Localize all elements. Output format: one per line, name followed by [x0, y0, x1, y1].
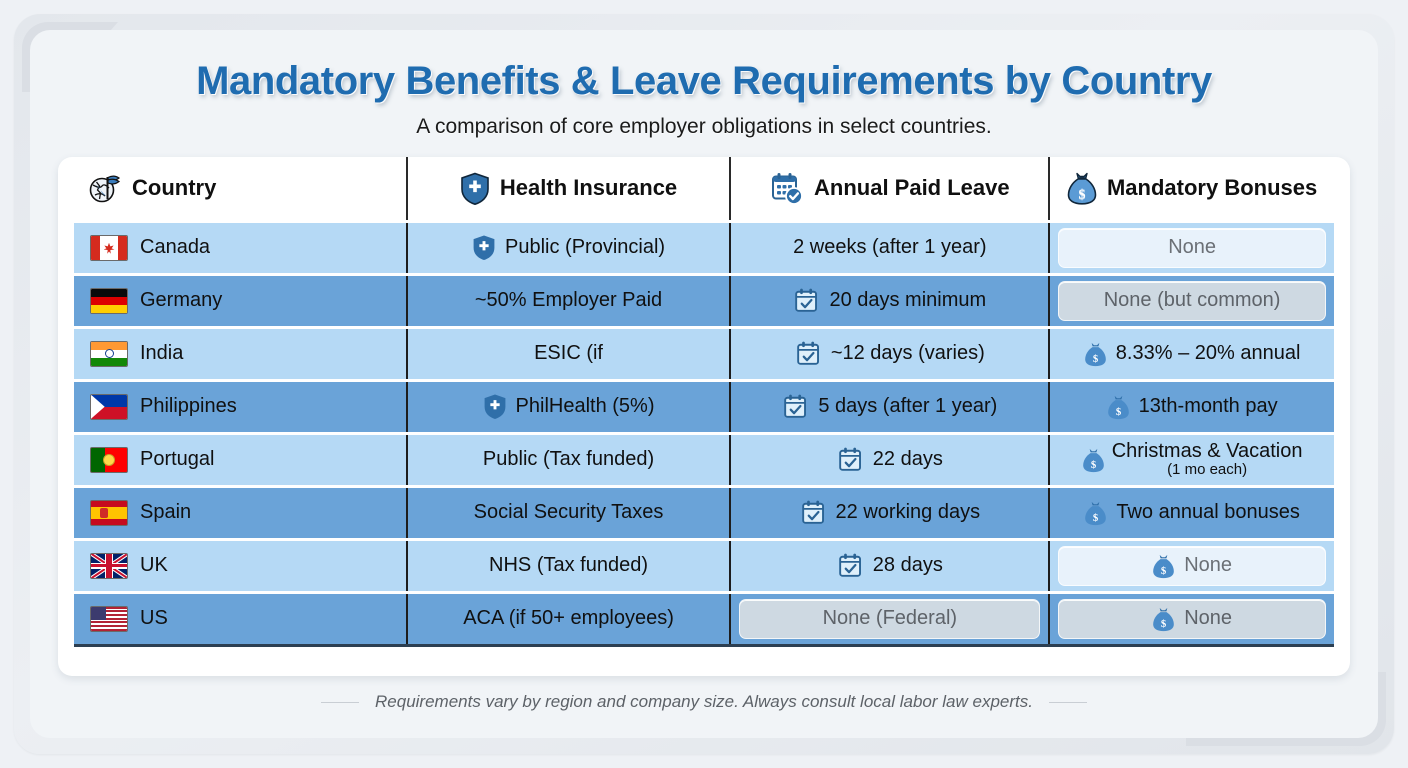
cell-mandatory-bonuses: $8.33% – 20% annual	[1049, 327, 1334, 380]
cell-health-insurance: ESIC (if	[407, 327, 731, 380]
footer-rule-right	[1049, 702, 1087, 703]
country-name: Spain	[140, 501, 191, 524]
header-row: Country Health Insurance	[74, 157, 1334, 221]
infographic-card: Mandatory Benefits & Leave Requirements …	[30, 30, 1378, 738]
health-text: ~50% Employer Paid	[475, 289, 662, 312]
svg-text:$: $	[1091, 459, 1097, 471]
bonus-badge: $None	[1058, 599, 1326, 639]
table-row[interactable]: USACA (if 50+ employees)None (Federal)$N…	[74, 592, 1334, 645]
health-text: Social Security Taxes	[474, 501, 664, 524]
money-bag-icon: $	[1107, 394, 1130, 420]
leave-text: 5 days (after 1 year)	[818, 395, 997, 418]
calendar-check-icon	[782, 393, 809, 420]
cell-country: Spain	[74, 486, 407, 539]
leave-value: 5 days (after 1 year)	[737, 393, 1042, 420]
svg-text:$: $	[1093, 353, 1099, 365]
cell-annual-paid-leave: 20 days minimum	[730, 274, 1049, 327]
cell-health-insurance: Social Security Taxes	[407, 486, 731, 539]
money-bag-icon: $	[1084, 341, 1107, 367]
cell-country: US	[74, 592, 407, 645]
philippines-flag-icon	[90, 394, 128, 420]
health-text: ESIC (if	[534, 342, 603, 365]
country-name: UK	[140, 554, 168, 577]
cell-health-insurance: PhilHealth (5%)	[407, 380, 731, 433]
table-row[interactable]: CanadaPublic (Provincial)2 weeks (after …	[74, 221, 1334, 274]
cell-country: Germany	[74, 274, 407, 327]
calendar-check-icon	[800, 499, 827, 526]
health-value: PhilHealth (5%)	[414, 393, 724, 420]
health-value: Social Security Taxes	[414, 501, 724, 524]
leave-text: 20 days minimum	[829, 289, 986, 312]
bonus-value: $13th-month pay	[1056, 394, 1328, 420]
benefits-table: Country Health Insurance	[74, 157, 1334, 647]
shield-plus-icon	[460, 172, 490, 205]
money-bag-icon: $	[1082, 447, 1105, 473]
health-value: Public (Provincial)	[414, 234, 724, 261]
footer-note: Requirements vary by region and company …	[375, 692, 1033, 712]
health-value: ~50% Employer Paid	[414, 289, 724, 312]
cell-annual-paid-leave: 22 working days	[730, 486, 1049, 539]
money-bag-icon: $	[1067, 171, 1097, 205]
leave-text: ~12 days (varies)	[831, 342, 985, 365]
column-header-country-label: Country	[132, 175, 216, 201]
bonus-text: 13th-month pay	[1139, 395, 1278, 418]
country-name: US	[140, 607, 168, 630]
health-value: ESIC (if	[414, 342, 724, 365]
table-row[interactable]: IndiaESIC (if ~12 days (varies)$8.33% – …	[74, 327, 1334, 380]
health-text: NHS (Tax funded)	[489, 554, 648, 577]
shield-plus-icon	[483, 393, 507, 420]
cell-health-insurance: ACA (if 50+ employees)	[407, 592, 731, 645]
bonus-value: $Two annual bonuses	[1056, 500, 1328, 526]
table-row[interactable]: Germany~50% Employer Paid20 days minimum…	[74, 274, 1334, 327]
bonus-text: 8.33% – 20% annual	[1116, 342, 1301, 365]
leave-text: 2 weeks (after 1 year)	[793, 236, 986, 259]
bonus-value: $Christmas & Vacation(1 mo each)	[1056, 441, 1328, 478]
cell-health-insurance: Public (Provincial)	[407, 221, 731, 274]
column-header-annual-paid-leave: Annual Paid Leave	[730, 157, 1049, 221]
cell-mandatory-bonuses: $None	[1049, 539, 1334, 592]
leave-value: 20 days minimum	[737, 287, 1042, 314]
bonus-text: None	[1184, 554, 1232, 577]
shield-plus-icon	[472, 234, 496, 261]
money-bag-icon: $	[1152, 606, 1175, 632]
country-name: Germany	[140, 289, 222, 312]
bonus-text: Two annual bonuses	[1116, 501, 1299, 524]
cell-mandatory-bonuses: $None	[1049, 592, 1334, 645]
leave-value: 28 days	[737, 552, 1042, 579]
column-header-health-insurance: Health Insurance	[407, 157, 731, 221]
leave-value: 22 working days	[737, 499, 1042, 526]
table-header: Country Health Insurance	[74, 157, 1334, 221]
germany-flag-icon	[90, 288, 128, 314]
cell-annual-paid-leave: ~12 days (varies)	[730, 327, 1049, 380]
leave-text: 28 days	[873, 554, 943, 577]
health-text: ACA (if 50+ employees)	[463, 607, 674, 630]
canada-flag-icon	[90, 235, 128, 261]
health-value: ACA (if 50+ employees)	[414, 607, 724, 630]
calendar-check-icon	[837, 446, 864, 473]
cell-annual-paid-leave: 2 weeks (after 1 year)	[730, 221, 1049, 274]
column-header-bonus-label: Mandatory Bonuses	[1107, 175, 1317, 201]
bonus-text: None	[1168, 236, 1216, 259]
leave-text: 22 working days	[836, 501, 981, 524]
page-subtitle: A comparison of core employer obligation…	[58, 115, 1350, 139]
cell-mandatory-bonuses: None	[1049, 221, 1334, 274]
svg-text:$: $	[1078, 188, 1085, 203]
column-header-leave-label: Annual Paid Leave	[814, 175, 1010, 201]
bonus-value: $8.33% – 20% annual	[1056, 341, 1328, 367]
health-value: Public (Tax funded)	[414, 448, 724, 471]
table-body: CanadaPublic (Provincial)2 weeks (after …	[74, 221, 1334, 645]
cell-health-insurance: ~50% Employer Paid	[407, 274, 731, 327]
leave-text: 22 days	[873, 448, 943, 471]
table-row[interactable]: UKNHS (Tax funded)28 days$None	[74, 539, 1334, 592]
cell-country: India	[74, 327, 407, 380]
india-flag-icon	[90, 341, 128, 367]
leave-value: ~12 days (varies)	[737, 340, 1042, 367]
bonus-badge: $None	[1058, 546, 1326, 586]
bonus-badge: None (but common)	[1058, 281, 1326, 321]
table-row[interactable]: SpainSocial Security Taxes22 working day…	[74, 486, 1334, 539]
column-header-country: Country	[74, 157, 407, 221]
money-bag-icon: $	[1084, 500, 1107, 526]
cell-country: Portugal	[74, 433, 407, 486]
bonus-badge: None	[1058, 228, 1326, 268]
cell-health-insurance: NHS (Tax funded)	[407, 539, 731, 592]
cell-health-insurance: Public (Tax funded)	[407, 433, 731, 486]
table-row[interactable]: PhilippinesPhilHealth (5%)5 days (after …	[74, 380, 1334, 433]
portugal-flag-icon	[90, 447, 128, 473]
table-panel: Country Health Insurance	[58, 157, 1350, 676]
health-text: Public (Provincial)	[505, 236, 665, 259]
cell-mandatory-bonuses: None (but common)	[1049, 274, 1334, 327]
country-name: Philippines	[140, 395, 237, 418]
uk-flag-icon	[90, 553, 128, 579]
cell-mandatory-bonuses: $Christmas & Vacation(1 mo each)	[1049, 433, 1334, 486]
country-name: Canada	[140, 236, 210, 259]
cell-country: Canada	[74, 221, 407, 274]
calendar-check-icon	[793, 287, 820, 314]
cell-annual-paid-leave: 5 days (after 1 year)	[730, 380, 1049, 433]
svg-text:$: $	[1161, 618, 1167, 630]
bonus-subtext: (1 mo each)	[1112, 462, 1303, 478]
calendar-check-icon	[837, 552, 864, 579]
footer: Requirements vary by region and company …	[58, 692, 1350, 712]
cell-country: UK	[74, 539, 407, 592]
svg-text:$: $	[1161, 565, 1167, 577]
cell-mandatory-bonuses: $Two annual bonuses	[1049, 486, 1334, 539]
bonus-text: Christmas & Vacation	[1112, 441, 1303, 462]
country-name: Portugal	[140, 448, 215, 471]
footer-rule-left	[321, 702, 359, 703]
calendar-check-icon	[795, 340, 822, 367]
cell-annual-paid-leave: 28 days	[730, 539, 1049, 592]
column-header-health-label: Health Insurance	[500, 175, 677, 201]
cell-annual-paid-leave: 22 days	[730, 433, 1049, 486]
calendar-check-icon	[770, 171, 804, 205]
leave-badge: None (Federal)	[739, 599, 1040, 639]
cell-annual-paid-leave: None (Federal)	[730, 592, 1049, 645]
health-value: NHS (Tax funded)	[414, 554, 724, 577]
svg-text:$: $	[1115, 406, 1121, 418]
leave-value: 2 weeks (after 1 year)	[737, 236, 1042, 259]
bonus-text: None (but common)	[1104, 289, 1281, 312]
svg-text:$: $	[1093, 512, 1099, 524]
cell-country: Philippines	[74, 380, 407, 433]
page-title: Mandatory Benefits & Leave Requirements …	[58, 56, 1350, 107]
health-text: Public (Tax funded)	[483, 448, 654, 471]
health-text: PhilHealth (5%)	[516, 395, 655, 418]
leave-value: 22 days	[737, 446, 1042, 473]
country-name: India	[140, 342, 183, 365]
cell-mandatory-bonuses: $13th-month pay	[1049, 380, 1334, 433]
table-row[interactable]: PortugalPublic (Tax funded)22 days$Chris…	[74, 433, 1334, 486]
globe-flag-icon	[88, 171, 122, 205]
bonus-text: None	[1184, 607, 1232, 630]
money-bag-icon: $	[1152, 553, 1175, 579]
column-header-mandatory-bonuses: $ Mandatory Bonuses	[1049, 157, 1334, 221]
spain-flag-icon	[90, 500, 128, 526]
us-flag-icon	[90, 606, 128, 632]
leave-text: None (Federal)	[823, 607, 958, 630]
